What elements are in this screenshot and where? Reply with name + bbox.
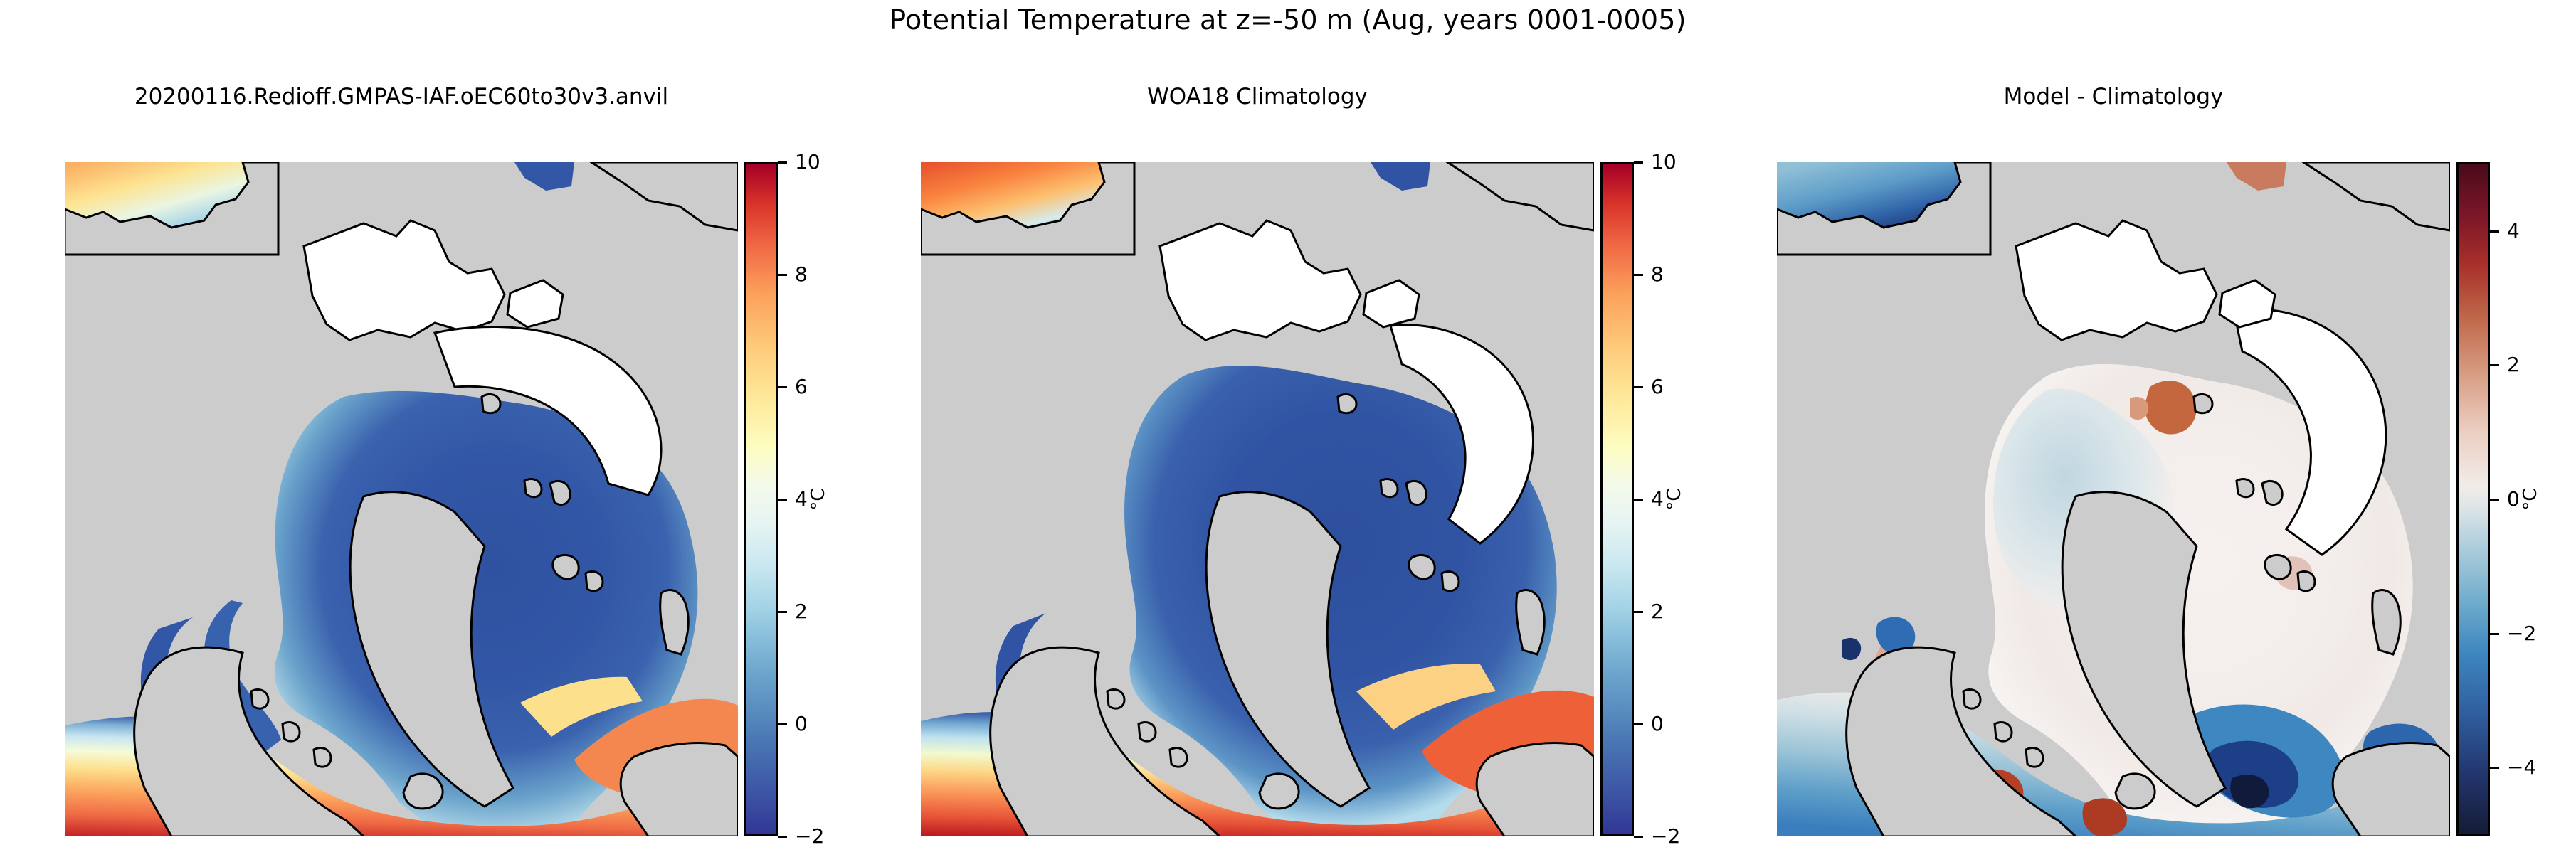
map-panel-difference[interactable] [1777,162,2450,836]
ctick-label: 10 [795,149,820,176]
climatology-map-svg [921,162,1594,836]
colorbar-climatology-gradient [1600,162,1634,836]
colorbar-unit-label: °C [1664,488,1685,510]
colorbar-difference-gradient [2456,162,2490,836]
ctick-label: 4 [2507,218,2520,245]
ctick-label: 6 [1651,373,1664,400]
colorbar-climatology[interactable]: −2 0 2 4 6 8 10 °C [1600,162,1634,836]
ctick-label: −4 [2507,754,2536,781]
figure-title: Potential Temperature at z=-50 m (Aug, y… [0,4,2576,36]
ctick-label: 6 [795,373,808,400]
colorbar-model-gradient [744,162,778,836]
map-panel-model[interactable] [65,162,738,836]
colorbar-unit-label: °C [2520,488,2541,510]
model-map-svg [65,162,738,836]
ctick-label: 2 [2507,351,2520,378]
colorbar-model[interactable]: −2 0 2 4 6 8 10 °C [744,162,778,836]
ctick-label: 0 [1651,711,1664,738]
panel-title-model: 20200116.Redioff.GMPAS-IAF.oEC60to30v3.a… [65,84,738,110]
colorbar-unit-label: °C [808,488,829,510]
ctick-label: 8 [1651,261,1664,288]
panel-title-climatology: WOA18 Climatology [921,84,1594,110]
ctick-label: 8 [795,261,808,288]
ctick-label: −2 [795,823,824,850]
ctick-label: 0 [795,711,808,738]
ctick-label: 10 [1651,149,1677,176]
ctick-label: −2 [2507,620,2536,647]
ctick-label: 2 [1651,598,1664,625]
ctick-label: 4 [795,486,808,513]
colorbar-difference[interactable]: −4 −2 0 2 4 °C [2456,162,2490,836]
figure-canvas: Potential Temperature at z=-50 m (Aug, y… [0,0,2576,862]
ctick-label: 4 [1651,486,1664,513]
map-panel-climatology[interactable] [921,162,1594,836]
ctick-label: 0 [2507,486,2520,513]
ctick-label: 2 [795,598,808,625]
ctick-label: −2 [1651,823,1680,850]
difference-map-svg [1777,162,2450,836]
panel-title-difference: Model - Climatology [1777,84,2450,110]
